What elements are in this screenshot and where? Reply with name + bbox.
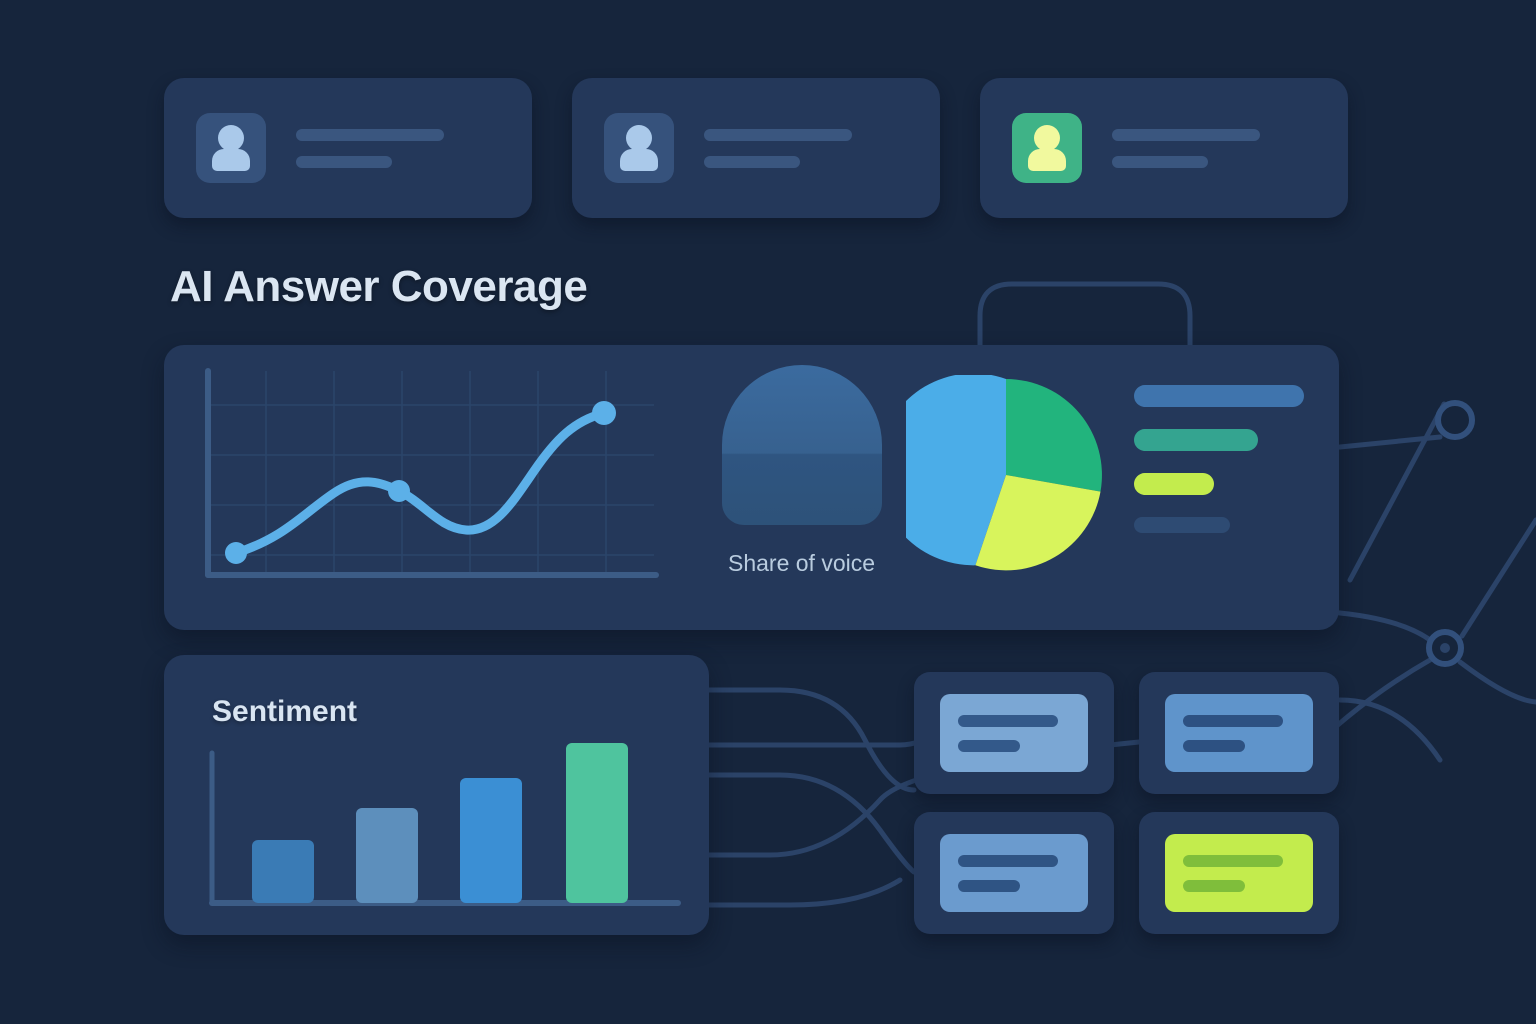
profile-text-placeholder [704, 129, 852, 168]
placeholder-line [1183, 880, 1245, 892]
placeholder-line [296, 156, 392, 168]
share-of-voice-label: Share of voice [694, 550, 909, 577]
person-icon-head [626, 125, 652, 151]
line-chart-marker [225, 542, 247, 564]
placeholder-line [958, 715, 1058, 727]
legend-bar-4[interactable] [1134, 517, 1230, 533]
result-card-panel [1165, 694, 1313, 772]
profile-card-2[interactable] [572, 78, 940, 218]
line-chart-marker [388, 480, 410, 502]
coverage-panel: Share of voice [164, 345, 1339, 630]
sentiment-title: Sentiment [212, 695, 357, 729]
page-title: AI Answer Coverage [170, 262, 587, 312]
placeholder-line [958, 855, 1058, 867]
bar-negative [252, 840, 314, 903]
result-card-panel [1165, 834, 1313, 912]
profile-card-3[interactable] [980, 78, 1348, 218]
coverage-line-chart [194, 363, 664, 613]
profile-text-placeholder [296, 129, 444, 168]
network-node-icon [1438, 403, 1472, 437]
result-card-2[interactable] [1139, 672, 1339, 794]
sentiment-panel: Sentiment [164, 655, 709, 935]
result-card-panel [940, 694, 1088, 772]
bar-neutral [356, 808, 418, 903]
result-card-panel [940, 834, 1088, 912]
coverage-legend [1134, 385, 1304, 533]
line-chart-marker [592, 401, 616, 425]
placeholder-line [1112, 156, 1208, 168]
avatar-highlighted [1012, 113, 1082, 183]
person-icon-body [620, 149, 658, 171]
top-card-row [164, 78, 1348, 218]
result-card-3[interactable] [914, 812, 1114, 934]
avatar [604, 113, 674, 183]
placeholder-line [958, 740, 1020, 752]
legend-bar-1[interactable] [1134, 385, 1304, 407]
placeholder-line [1183, 715, 1283, 727]
placeholder-line [1112, 129, 1260, 141]
legend-bar-2[interactable] [1134, 429, 1258, 451]
result-card-4-highlighted[interactable] [1139, 812, 1339, 934]
legend-bar-3[interactable] [1134, 473, 1214, 495]
person-icon-body [1028, 149, 1066, 171]
placeholder-line [704, 129, 852, 141]
person-icon-head [1034, 125, 1060, 151]
share-of-voice-widget: Share of voice [694, 365, 909, 610]
result-card-1[interactable] [914, 672, 1114, 794]
share-of-voice-pie-chart [906, 375, 1106, 575]
dashboard-stage: AI Answer Coverage [0, 0, 1536, 1024]
profile-text-placeholder [1112, 129, 1260, 168]
placeholder-line [1183, 855, 1283, 867]
profile-card-1[interactable] [164, 78, 532, 218]
network-node-icon [1429, 632, 1461, 664]
person-icon-head [218, 125, 244, 151]
sentiment-bar-chart [196, 735, 686, 920]
share-of-voice-shape [722, 365, 882, 525]
avatar [196, 113, 266, 183]
bar-very-positive [566, 743, 628, 903]
placeholder-line [296, 129, 444, 141]
placeholder-line [704, 156, 800, 168]
person-icon-body [212, 149, 250, 171]
bar-positive [460, 778, 522, 903]
placeholder-line [1183, 740, 1245, 752]
placeholder-line [958, 880, 1020, 892]
